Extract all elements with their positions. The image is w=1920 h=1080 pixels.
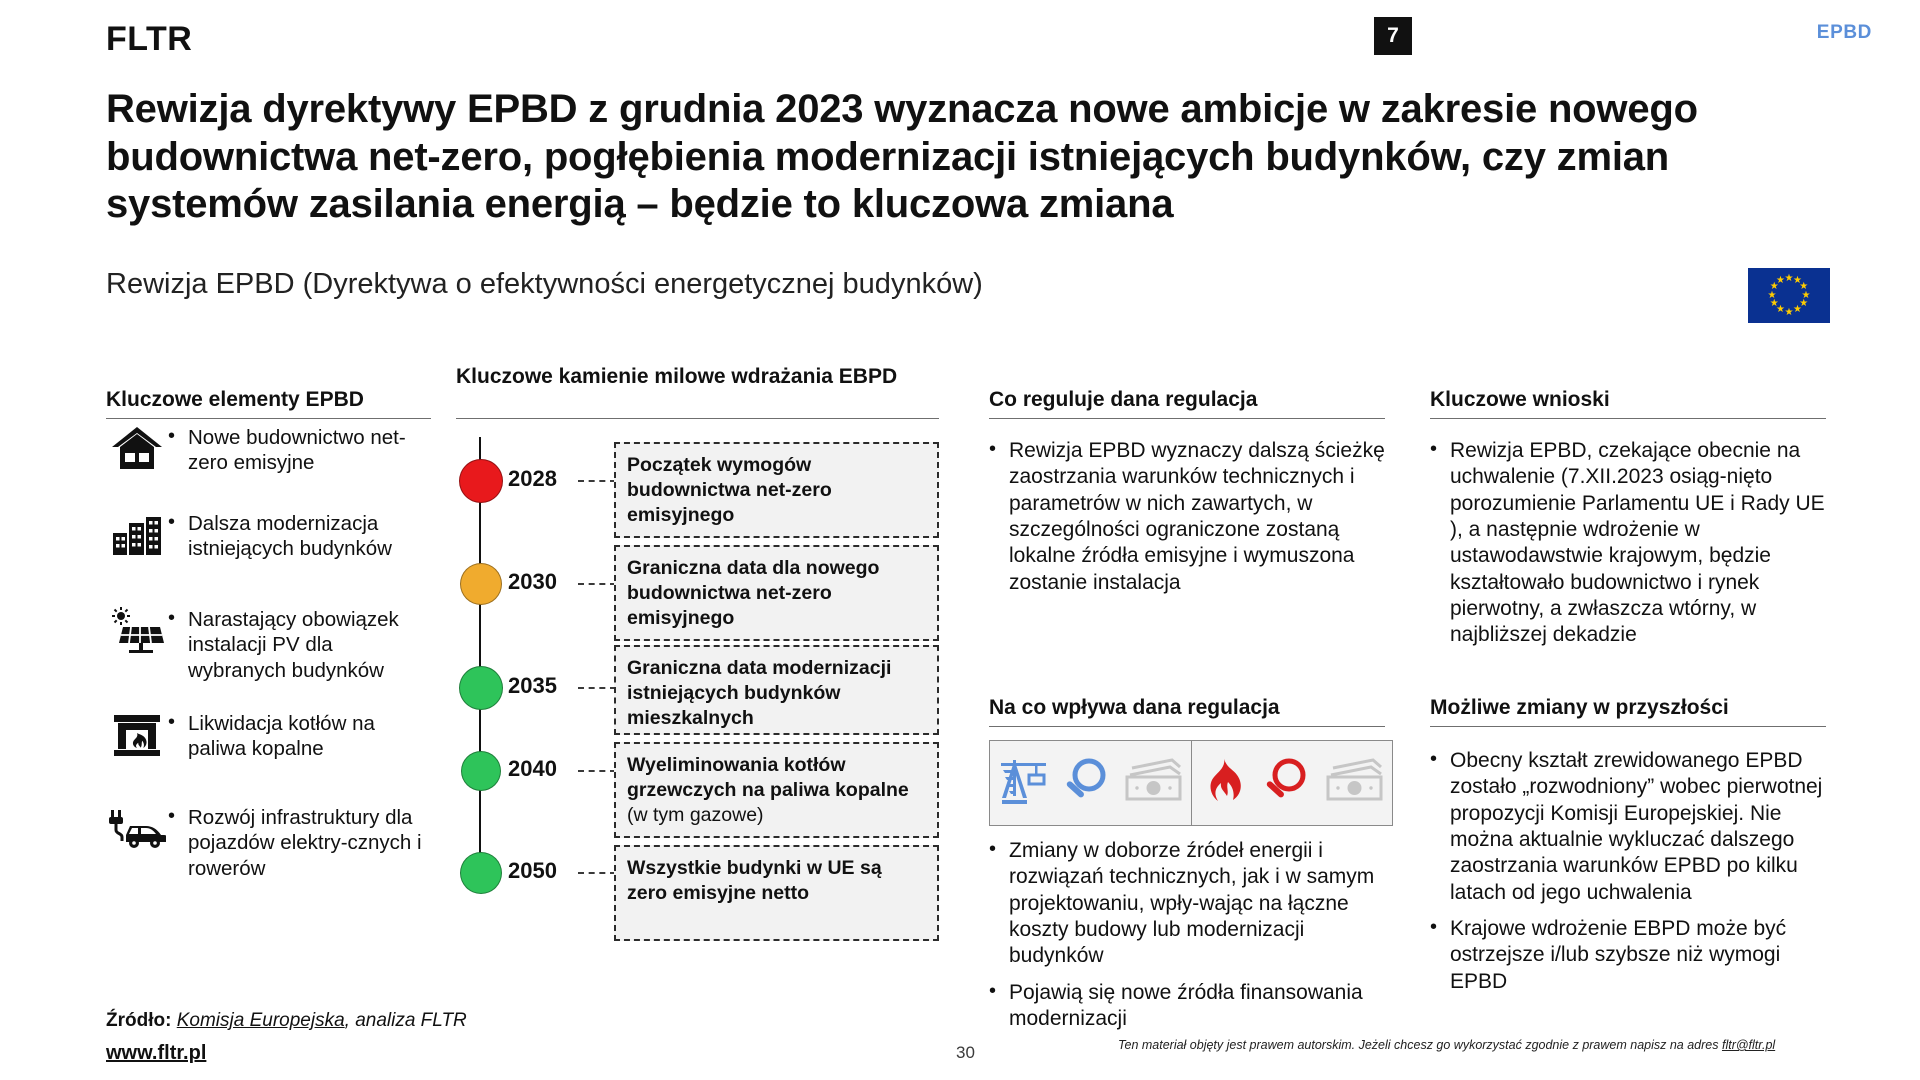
buildings-icon [106, 511, 168, 557]
magnifier-icon [1261, 756, 1309, 811]
source-link[interactable]: Komisja Europejska [177, 1010, 345, 1031]
topic-tag: EPBD [1817, 22, 1872, 44]
timeline-milestone-note: (w tym gazowe) [627, 804, 764, 826]
page-subtitle: Rewizja EPBD (Dyrektywa o efektywności e… [106, 268, 983, 301]
bullet-list: Zmiany w doborze źródeł energii i rozwią… [989, 838, 1387, 1032]
timeline-year: 2030 [508, 569, 557, 595]
divider [456, 418, 939, 419]
timeline-dot [460, 852, 502, 894]
divider [106, 418, 431, 419]
key-element-item: Likwidacja kotłów na paliwa kopalne [106, 711, 436, 762]
divider [1430, 418, 1826, 419]
affects-icons-emissions [1192, 741, 1393, 825]
timeline-year: 2050 [508, 858, 557, 884]
section-title-regulates: Co reguluje dana regulacja [989, 388, 1369, 413]
key-element-label: Nowe budownictwo net-zero emisyjne [168, 425, 436, 476]
timeline-dot [461, 751, 501, 791]
affects-bullets: Zmiany w doborze źródeł energii i rozwią… [989, 838, 1387, 1042]
legal-text: Ten materiał objęty jest prawem autorski… [1118, 1038, 1722, 1052]
timeline-milestone-label: Początek wymogów budownictwa net-zero em… [627, 454, 832, 526]
bullet-item: Rewizja EPBD, czekające obecnie na uchwa… [1430, 438, 1830, 649]
bullet-list: Rewizja EPBD wyznaczy dalszą ścieżkę zao… [989, 438, 1387, 596]
timeline-connector [578, 583, 616, 585]
timeline-milestone-box: Wszystkie budynki w UE są zero emisyjne … [614, 845, 939, 941]
brand-logo: FLTR [106, 20, 192, 59]
key-element-label: Narastający obowiązek instalacji PV dla … [168, 607, 436, 683]
money-icon [1323, 756, 1385, 811]
slide-root: FLTR 7 EPBD Rewizja dyrektywy EPBD z gru… [0, 0, 1920, 1080]
key-element-item: Rozwój infrastruktury dla pojazdów elekt… [106, 805, 436, 881]
divider [989, 726, 1385, 727]
money-icon [1122, 756, 1184, 811]
boiler-icon [106, 711, 168, 759]
page-badge: 7 [1374, 17, 1412, 55]
house-icon [106, 425, 168, 471]
ev-charging-icon [106, 805, 168, 849]
key-element-item: Nowe budownictwo net-zero emisyjne [106, 425, 436, 476]
magnifier-icon [1061, 756, 1109, 811]
timeline-dot [459, 666, 503, 710]
bullet-item: Krajowe wdrożenie EBPD może być ostrzejs… [1430, 916, 1830, 995]
regulates-bullets: Rewizja EPBD wyznaczy dalszą ścieżkę zao… [989, 438, 1387, 606]
timeline-milestone-box: Graniczna data modernizacji istniejących… [614, 645, 939, 735]
future-bullets: Obecny kształt zrewidowanego EPBD został… [1430, 748, 1830, 1005]
key-element-item: Narastający obowiązek instalacji PV dla … [106, 607, 436, 683]
key-element-label: Likwidacja kotłów na paliwa kopalne [168, 711, 436, 762]
source-rest: , analiza FLTR [345, 1010, 467, 1031]
flame-icon [1199, 755, 1247, 812]
divider [1430, 726, 1826, 727]
eu-flag-icon: ★★★★★★★★★★★★ [1748, 268, 1830, 323]
eu-star-icon: ★ [1785, 308, 1794, 317]
website-link[interactable]: www.fltr.pl [106, 1042, 206, 1065]
section-title-conclusions: Kluczowe wnioski [1430, 388, 1830, 413]
key-element-item: Dalsza modernizacja istniejących budynkó… [106, 511, 436, 562]
timeline-dot [459, 459, 503, 503]
bullet-item: Zmiany w doborze źródeł energii i rozwią… [989, 838, 1387, 970]
section-title-future: Możliwe zmiany w przyszłości [1430, 696, 1830, 721]
key-element-label: Dalsza modernizacja istniejących budynkó… [168, 511, 436, 562]
divider [989, 418, 1385, 419]
section-title-milestones: Kluczowe kamienie milowe wdrażania EBPD [456, 365, 926, 390]
eu-star-icon: ★ [1776, 276, 1785, 285]
timeline-milestone-box: Początek wymogów budownictwa net-zero em… [614, 442, 939, 538]
timeline-connector [578, 480, 616, 482]
conclusions-bullets: Rewizja EPBD, czekające obecnie na uchwa… [1430, 438, 1830, 659]
timeline-milestone-label: Wyeliminowania kotłów grzewczych na pali… [627, 754, 909, 801]
timeline-connector [578, 872, 616, 874]
solar-panel-icon [106, 607, 168, 655]
page-title: Rewizja dyrektywy EPBD z grudnia 2023 wy… [106, 86, 1806, 229]
bullet-list: Rewizja EPBD, czekające obecnie na uchwa… [1430, 438, 1830, 649]
timeline-year: 2040 [508, 756, 557, 782]
key-element-label: Rozwój infrastruktury dla pojazdów elekt… [168, 805, 436, 881]
legal-email[interactable]: fltr@fltr.pl [1722, 1038, 1775, 1052]
source-label: Źródło: [106, 1010, 171, 1031]
eu-star-icon: ★ [1793, 305, 1802, 314]
timeline-milestone-box: Graniczna data dla nowego budownictwa ne… [614, 545, 939, 641]
source-line: Źródło: Komisja Europejska, analiza FLTR [106, 1010, 467, 1032]
section-title-affects: Na co wpływa dana regulacja [989, 696, 1389, 721]
section-title-key-elements: Kluczowe elementy EPBD [106, 388, 406, 413]
timeline-connector [578, 770, 616, 772]
timeline-year: 2035 [508, 673, 557, 699]
timeline-milestone-box: Wyeliminowania kotłów grzewczych na pali… [614, 742, 939, 838]
timeline-milestone-label: Wszystkie budynki w UE są zero emisyjne … [627, 857, 882, 904]
timeline-milestone-label: Graniczna data dla nowego budownictwa ne… [627, 557, 879, 629]
slide-number: 30 [956, 1043, 975, 1063]
bullet-item: Pojawią się nowe źródła finansowania mod… [989, 980, 1387, 1033]
timeline-milestone-label: Graniczna data modernizacji istniejących… [627, 657, 891, 729]
timeline-year: 2028 [508, 466, 557, 492]
bullet-item: Obecny kształt zrewidowanego EPBD został… [1430, 748, 1830, 906]
affects-icons-construction [990, 741, 1192, 825]
affects-icon-strip [989, 740, 1393, 826]
bullet-item: Rewizja EPBD wyznaczy dalszą ścieżkę zao… [989, 438, 1387, 596]
crane-icon [996, 756, 1048, 811]
bullet-list: Obecny kształt zrewidowanego EPBD został… [1430, 748, 1830, 995]
timeline-dot [460, 563, 502, 605]
legal-notice: Ten materiał objęty jest prawem autorski… [1118, 1038, 1775, 1052]
timeline-connector [578, 687, 616, 689]
